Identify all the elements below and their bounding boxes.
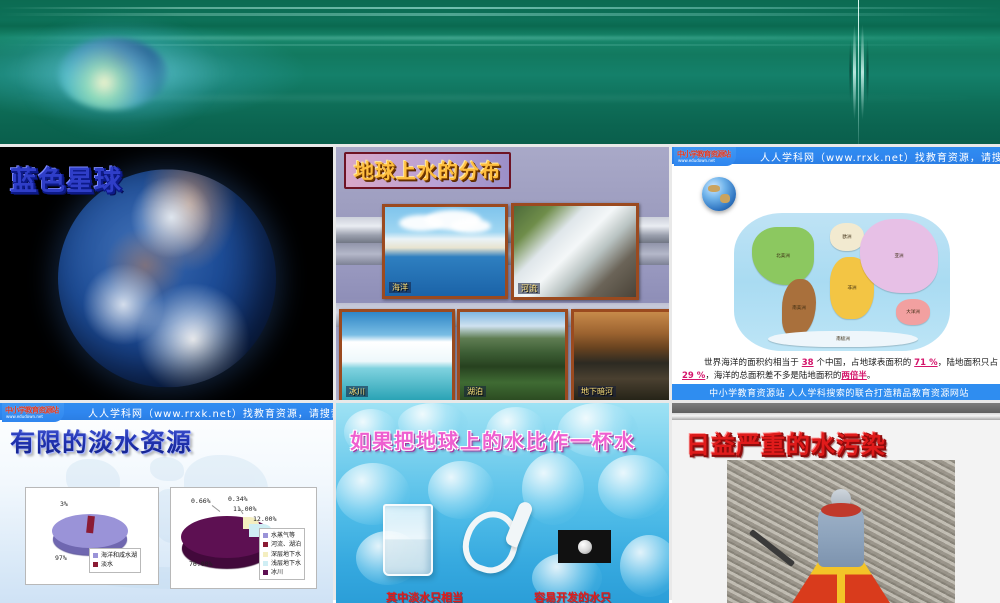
planet-icon xyxy=(58,38,168,110)
caption-right: 容易开发的水只 xyxy=(534,589,611,603)
highlight-value: 两倍半 xyxy=(841,371,867,381)
legend-label: 海洋和咸水湖 xyxy=(101,551,137,560)
site-header-text: 人人学科网（www.rrxk.net）找教育资源，请搜索一下 xyxy=(88,405,333,420)
photo-caption: 湖泊 xyxy=(464,386,486,397)
pie-chart-water-types: 3% 97% 海洋和咸水湖 淡水 xyxy=(25,487,159,585)
highlight-value: 29 % xyxy=(682,371,705,381)
legend-label: 河流、湖泊 xyxy=(271,540,301,549)
legend-item: 浅层地下水 xyxy=(263,559,301,568)
continent-label: 北美洲 xyxy=(776,253,790,259)
caption-left: 其中淡水只相当 xyxy=(386,589,463,603)
water-drop-photo xyxy=(558,530,611,563)
photo-caption: 地下暗河 xyxy=(578,386,616,397)
site-logo-url: www.edudown.net xyxy=(6,414,43,419)
continent-label: 亚洲 xyxy=(895,253,904,259)
bubble-decoration xyxy=(620,535,669,597)
body-part: 世界海洋的面积约相当于 xyxy=(704,358,802,368)
globe-icon xyxy=(702,177,736,211)
legend-swatch xyxy=(93,562,98,567)
photo-caption: 冰川 xyxy=(346,386,368,397)
slide-title: 有限的淡水资源 xyxy=(10,423,192,459)
slide-world-map[interactable]: 中小学教育资源站 www.edudown.net 人人学科网（www.rrxk.… xyxy=(672,147,1000,400)
water-drop xyxy=(578,540,592,554)
site-logo: 中小学教育资源站 www.edudown.net xyxy=(674,147,736,166)
pie-value-label: 0.66% xyxy=(191,497,211,505)
pie-value-label: 11.00% xyxy=(233,505,256,513)
body-part: 个中国，占地球表面积的 xyxy=(814,358,915,368)
legend-label: 水蒸气等 xyxy=(271,531,295,540)
legend-label: 深层地下水 xyxy=(271,550,301,559)
legend-label: 浅层地下水 xyxy=(271,559,301,568)
continent-south-america: 南美洲 xyxy=(782,279,816,337)
pie-body xyxy=(52,514,128,548)
highlight-value: 38 xyxy=(802,358,814,368)
continent-oceania: 大洋洲 xyxy=(896,299,930,325)
slide-title: 蓝色星球 xyxy=(10,159,122,198)
pie-value-label: 76.00% xyxy=(189,560,212,568)
slide-title: 如果把地球上的水比作一杯水 xyxy=(350,425,636,454)
world-map: 北美洲 南美洲 欧洲 非洲 亚洲 大洋洲 南极洲 xyxy=(734,213,950,351)
continent-label: 南美洲 xyxy=(792,305,806,311)
slide-blue-planet[interactable]: 蓝色星球 xyxy=(0,147,333,400)
person xyxy=(818,505,864,567)
pie-value-label: 12.00% xyxy=(253,515,276,523)
slide-water-distribution[interactable]: 地球上水的分布 海洋 河流 冰川 湖泊 地下暗河 xyxy=(336,147,669,400)
photo-lake: 湖泊 xyxy=(457,309,568,400)
body-part: 。 xyxy=(867,371,876,381)
site-logo: 中小学教育资源站 www.edudown.net xyxy=(2,403,64,422)
continent-label: 南极洲 xyxy=(836,336,850,342)
photo-river: 河流 xyxy=(511,203,639,300)
legend-label: 淡水 xyxy=(101,560,113,569)
vertical-light-beam xyxy=(836,0,882,144)
legend-item: 海洋和咸水湖 xyxy=(93,551,137,560)
photo-caption: 河流 xyxy=(518,283,540,294)
continent-label: 大洋洲 xyxy=(906,309,920,315)
highlight-value: 71 % xyxy=(914,358,937,368)
dead-fish-photo xyxy=(727,460,955,603)
site-header-text: 人人学科网（www.rrxk.net）找教育资源，请搜索一下 xyxy=(760,149,1000,164)
pie-value-label: 0.34% xyxy=(228,495,248,503)
pie-value-label: 3% xyxy=(60,500,68,508)
bubble-decoration xyxy=(598,455,669,519)
photo-ocean: 海洋 xyxy=(382,204,508,299)
leader-line xyxy=(212,505,220,512)
water-glass-photo xyxy=(383,504,433,576)
legend-swatch xyxy=(93,553,98,558)
slide-title: 地球上水的分布 xyxy=(344,152,511,189)
legend-item: 水蒸气等 xyxy=(263,531,301,540)
legend-swatch xyxy=(263,552,268,557)
slide-limited-freshwater[interactable]: 中小学教育资源站 www.edudown.net 人人学科网（www.rrxk.… xyxy=(0,403,333,603)
legend-swatch xyxy=(263,561,268,566)
person-collar xyxy=(821,503,861,517)
slide-grid: 蓝色星球 地球上水的分布 海洋 河流 冰川 湖泊 xyxy=(0,147,1000,600)
legend-swatch xyxy=(263,570,268,575)
decorative-top-bar xyxy=(672,403,1000,413)
legend-item: 河流、湖泊 xyxy=(263,540,301,549)
pie-legend: 海洋和咸水湖 淡水 xyxy=(89,548,141,573)
legend-swatch xyxy=(263,542,268,547)
slide-title: 日益严重的水污染 xyxy=(686,425,886,460)
pie-slice-freshwater xyxy=(86,516,95,534)
slide-water-pollution[interactable]: 日益严重的水污染 xyxy=(672,403,1000,603)
paddle xyxy=(749,529,795,567)
photo-caption: 海洋 xyxy=(389,282,411,293)
pie-legend: 水蒸气等 河流、湖泊 深层地下水 浅层地下水 冰川 xyxy=(259,528,305,580)
photo-glacier: 冰川 xyxy=(339,309,455,400)
photo-underground-river: 地下暗河 xyxy=(571,309,669,400)
legend-swatch xyxy=(263,533,268,538)
green-water-banner xyxy=(0,0,1000,144)
legend-item: 深层地下水 xyxy=(263,550,301,559)
spoon-photo xyxy=(464,501,526,573)
continent-north-america: 北美洲 xyxy=(752,227,814,285)
legend-item: 淡水 xyxy=(93,560,137,569)
continent-antarctica: 南极洲 xyxy=(768,331,918,347)
site-footer-bar: 中小学教育资源站 人人学科搜索的联合打造精品教育资源网站 xyxy=(672,384,1000,400)
bubble-decoration xyxy=(522,453,584,525)
continent-asia: 亚洲 xyxy=(860,219,938,293)
slide-body-text: 世界海洋的面积约相当于 38 个中国，占地球表面积的 71 %，陆地面积只占 2… xyxy=(682,357,998,383)
site-logo-url: www.edudown.net xyxy=(678,158,715,163)
earth-photo xyxy=(58,169,276,387)
pie-chart-freshwater-breakdown: 0.66% 0.34% 11.00% 12.00% 76.00% 水蒸气等 河流… xyxy=(170,487,317,589)
site-header-bar: 中小学教育资源站 www.edudown.net 人人学科网（www.rrxk.… xyxy=(672,147,1000,164)
site-header-bar: 中小学教育资源站 www.edudown.net 人人学科网（www.rrxk.… xyxy=(0,403,333,420)
pie-value-label: 97% xyxy=(55,554,67,562)
slide-thumbnail-page: 蓝色星球 地球上水的分布 海洋 河流 冰川 湖泊 xyxy=(0,0,1000,600)
decorative-top-bar xyxy=(672,413,1000,420)
continent-label: 非洲 xyxy=(848,285,857,291)
body-part: ，陆地面积只占 xyxy=(938,358,998,368)
body-part: ，海洋的总面积差不多是陆地面积的 xyxy=(705,371,841,381)
continent-europe: 欧洲 xyxy=(830,223,864,251)
legend-label: 冰川 xyxy=(271,568,283,577)
continent-label: 欧洲 xyxy=(843,234,852,240)
slide-cup-of-water[interactable]: 如果把地球上的水比作一杯水 其中淡水只相当 容易开发的水只 xyxy=(336,403,669,603)
legend-item: 冰川 xyxy=(263,568,301,577)
